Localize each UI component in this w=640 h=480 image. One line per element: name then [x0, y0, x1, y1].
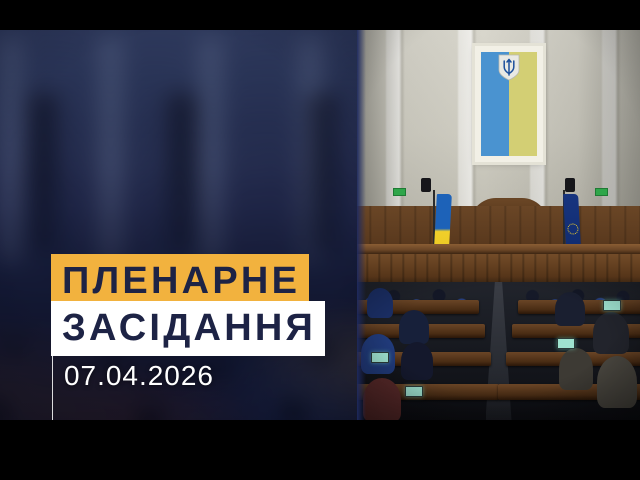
right-vignette: [357, 30, 640, 420]
title-line-secondary: ЗАСІДАННЯ: [51, 301, 325, 356]
video-frame: ПЛЕНАРНЕ ЗАСІДАННЯ 07.04.2026: [0, 30, 640, 420]
letterbox-bar-top: [0, 0, 640, 30]
letterbox-bar-bottom: [0, 420, 640, 480]
title-lockup: ПЛЕНАРНЕ ЗАСІДАННЯ 07.04.2026: [0, 30, 357, 420]
title-card-stage: ПЛЕНАРНЕ ЗАСІДАННЯ 07.04.2026: [0, 0, 640, 480]
broadcast-date: 07.04.2026: [64, 360, 214, 392]
right-chamber-panel: [357, 30, 640, 420]
panel-seam-bleed: [357, 30, 366, 420]
